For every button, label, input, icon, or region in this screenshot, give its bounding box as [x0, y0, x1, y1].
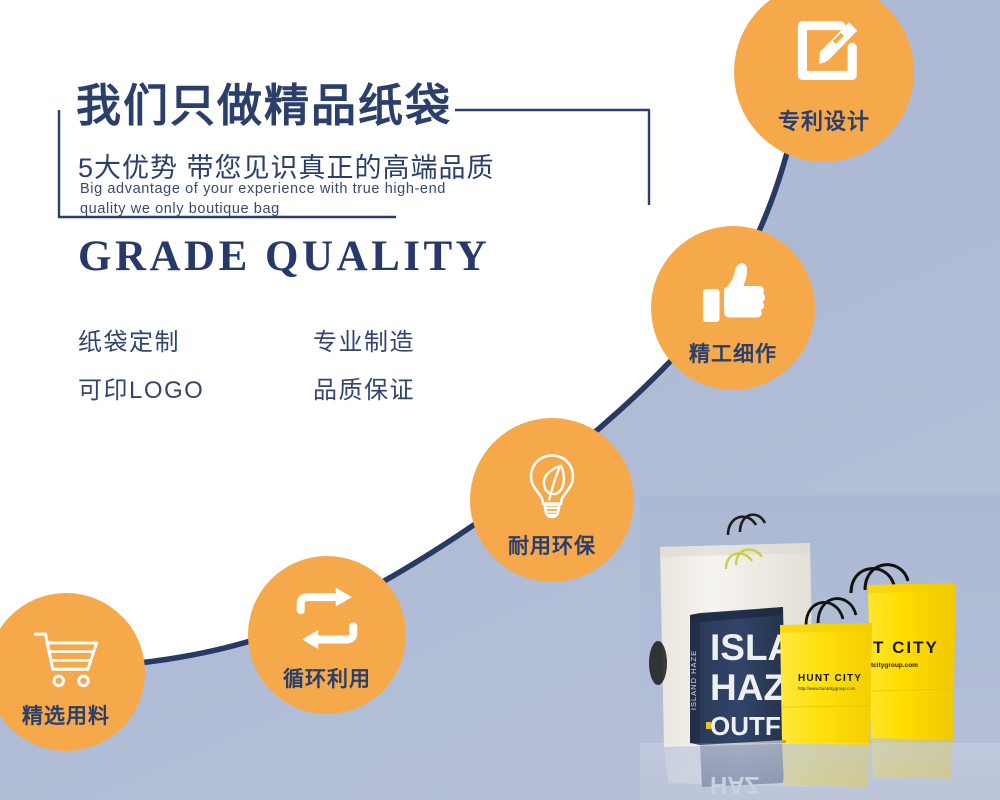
shopping-cart-icon: [30, 621, 103, 694]
paper-bags-product-photo: ISLAND HAZE ISLA HAZ OUTFIT T CITY tcity…: [640, 495, 1000, 800]
design-frame-brush-icon: [783, 14, 866, 97]
benefit-badge-selected-materials[interactable]: 精选用料: [0, 593, 145, 751]
english-tagline: Big advantage of your experience with tr…: [80, 180, 446, 219]
feature-label-2: 可印LOGO: [78, 370, 204, 405]
yellow-bag-large-url: tcitygroup.com: [871, 662, 918, 669]
feature-label-3: 品质保证: [313, 370, 415, 405]
benefit-badge-fine-craftsmanship[interactable]: 精工细作: [651, 226, 815, 390]
feature-label-0: 纸袋定制: [78, 322, 180, 357]
navy-bag-side-text: ISLAND HAZE: [689, 650, 698, 710]
lightbulb-leaf-icon: [515, 448, 590, 523]
benefit-badge-label: 精工细作: [651, 338, 815, 368]
navy-bag-line-2: HAZ: [710, 667, 786, 708]
yellow-bag-large-brand: T CITY: [873, 638, 939, 657]
navy-bag-reflection-text: HAZ: [710, 771, 759, 798]
page-title: 我们只做精品纸袋: [76, 82, 452, 129]
benefit-badge-label: 耐用环保: [470, 530, 634, 560]
benefit-badge-recyclable[interactable]: 循环利用: [248, 556, 406, 714]
recycle-arrows-icon: [291, 584, 364, 657]
yellow-bag-small-brand: HUNT CITY: [798, 673, 862, 684]
thumbs-up-icon: [696, 256, 771, 331]
benefit-badge-label: 精选用料: [0, 700, 145, 730]
yellow-bag-small-url: http://www.huntcitygroup.com: [798, 686, 856, 691]
promo-banner: 我们只做精品纸袋 5大优势 带您见识真正的高端品质 Big advantage …: [0, 0, 1000, 800]
benefit-badge-durable-eco[interactable]: 耐用环保: [470, 418, 634, 582]
benefit-badge-label: 循环利用: [248, 663, 406, 693]
bag-reflections: HAZ: [640, 738, 1000, 800]
benefit-badge-label: 专利设计: [734, 104, 914, 136]
feature-label-1: 专业制造: [313, 322, 415, 357]
grade-quality-title: GRADE QUALITY: [78, 232, 490, 281]
